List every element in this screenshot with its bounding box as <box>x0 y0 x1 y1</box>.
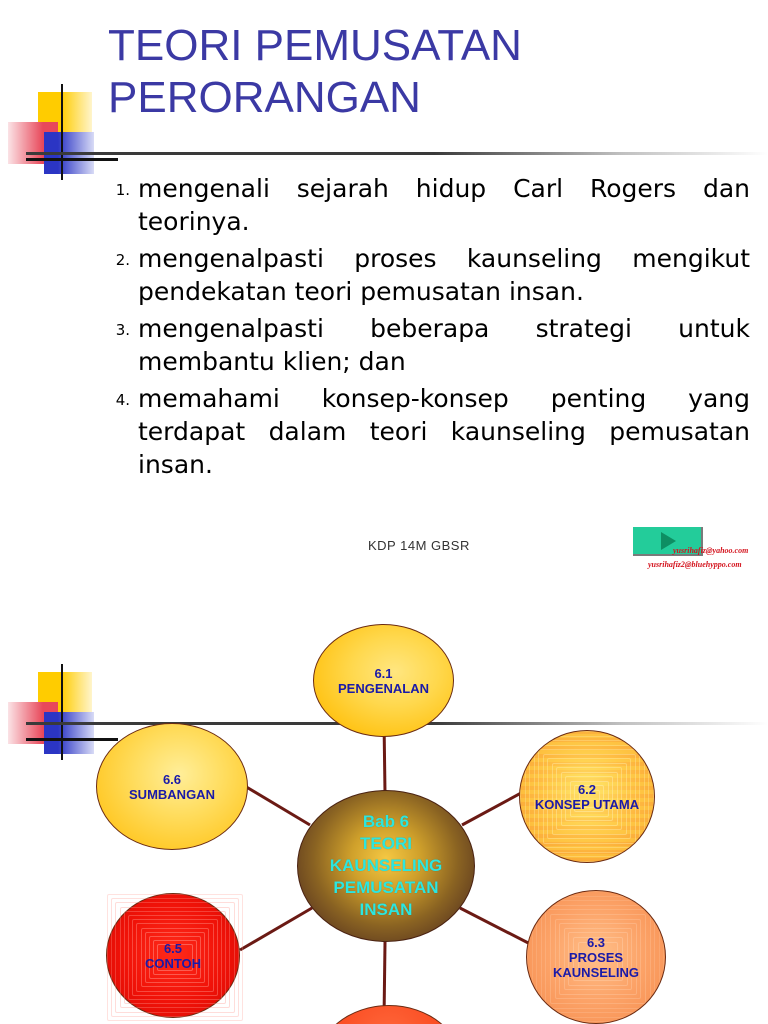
list-item-number: 2. <box>100 242 138 278</box>
cross-horizontal-icon <box>26 158 118 161</box>
mindmap-node-6-3[interactable]: 6.3 PROSES KAUNSELING <box>526 890 666 1024</box>
mindmap-node-6-2[interactable]: 6.2 KONSEP UTAMA <box>519 730 655 863</box>
slide-objectives: TEORI PEMUSATAN PERORANGAN 1. mengenali … <box>0 0 768 600</box>
list-item: 4. memahami konsep-konsep penting yang t… <box>100 382 750 481</box>
title-divider <box>26 152 768 155</box>
node-number: 6.5 <box>164 941 182 956</box>
page-title-line-2: PERORANGAN <box>108 72 748 124</box>
decorative-logo-bottom <box>0 650 120 760</box>
list-item-number: 3. <box>100 312 138 348</box>
center-line-3: KAUNSELING <box>330 855 442 877</box>
cross-horizontal-icon <box>26 738 118 741</box>
list-item-text: mengenalpasti beberapa strategi untuk me… <box>138 312 750 378</box>
center-line-1: Bab 6 <box>363 811 409 833</box>
mindmap-diagram: 6.1 PENGENALAN 6.6 SUMBANGAN 6.2 KONSEP … <box>0 600 768 1024</box>
list-item-text: mengenali sejarah hidup Carl Rogers dan … <box>138 172 750 238</box>
cross-vertical-icon <box>61 84 63 180</box>
node-number: 6.6 <box>163 772 181 787</box>
center-line-2: TEORI <box>360 833 412 855</box>
blue-square-icon <box>44 712 94 754</box>
mindmap-center-node[interactable]: Bab 6 TEORI KAUNSELING PEMUSATAN INSAN <box>297 790 475 942</box>
center-line-4: PEMUSATAN <box>333 877 438 899</box>
mindmap-node-6-6[interactable]: 6.6 SUMBANGAN <box>96 723 248 850</box>
list-item-number: 1. <box>100 172 138 208</box>
node-label: PROSES <box>569 950 623 965</box>
node-label: CONTOH <box>145 956 201 971</box>
page-title-line-1: TEORI PEMUSATAN <box>108 20 748 72</box>
objectives-list: 1. mengenali sejarah hidup Carl Rogers d… <box>100 172 750 485</box>
node-label: SUMBANGAN <box>129 787 215 802</box>
node-number: 6.1 <box>374 666 392 681</box>
page-title: TEORI PEMUSATAN PERORANGAN <box>108 20 748 124</box>
node-label: PENGENALAN <box>338 681 429 696</box>
email-link-secondary[interactable]: yusrihafiz2@bluehyppo.com <box>648 560 742 569</box>
node-label-2: KAUNSELING <box>553 965 639 980</box>
node-number: 6.2 <box>578 782 596 797</box>
list-item: 1. mengenali sejarah hidup Carl Rogers d… <box>100 172 750 238</box>
list-item-text: memahami konsep-konsep penting yang terd… <box>138 382 750 481</box>
mindmap-node-6-5[interactable]: 6.5 CONTOH <box>106 893 240 1018</box>
mindmap-node-6-1[interactable]: 6.1 PENGENALAN <box>313 624 454 737</box>
list-item: 3. mengenalpasti beberapa strategi untuk… <box>100 312 750 378</box>
slide-mindmap: 6.1 PENGENALAN 6.6 SUMBANGAN 6.2 KONSEP … <box>0 600 768 1024</box>
list-item: 2. mengenalpasti proses kaunseling mengi… <box>100 242 750 308</box>
cross-vertical-icon <box>61 664 63 760</box>
list-item-text: mengenalpasti proses kaunseling mengikut… <box>138 242 750 308</box>
email-link-primary[interactable]: yusrihafiz@yahoo.com <box>673 546 748 555</box>
node-number: 6.3 <box>587 935 605 950</box>
center-line-5: INSAN <box>360 899 413 921</box>
footer-code: KDP 14M GBSR <box>368 538 470 553</box>
decorative-logo-top <box>0 70 120 180</box>
list-item-number: 4. <box>100 382 138 418</box>
node-label: KONSEP UTAMA <box>535 797 639 812</box>
